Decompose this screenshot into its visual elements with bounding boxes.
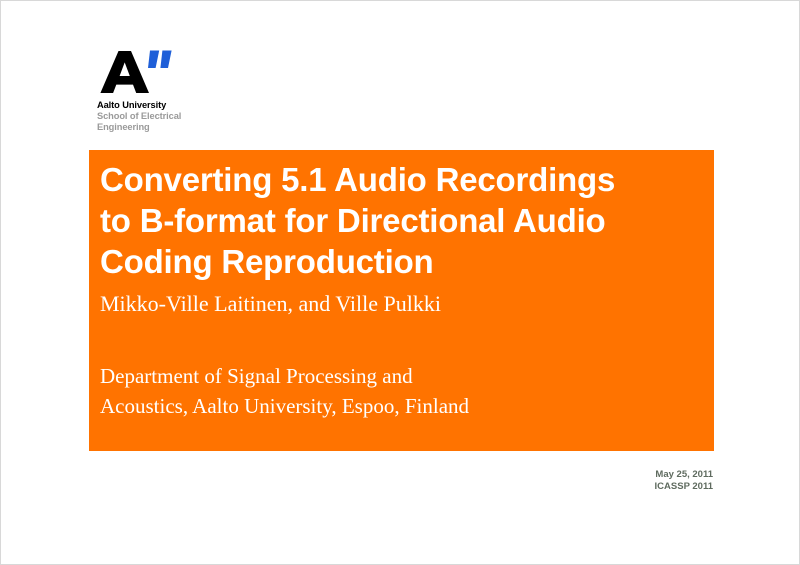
page-title: Converting 5.1 Audio Recordings to B-for…	[100, 159, 700, 282]
affiliation: Department of Signal Processing and Acou…	[100, 361, 469, 421]
logo-university-name: Aalto University	[97, 100, 277, 111]
logo-school-line-2: Engineering	[97, 122, 277, 133]
conference-name: ICASSP 2011	[655, 481, 713, 493]
title-line-1: Converting 5.1 Audio Recordings	[100, 159, 700, 200]
title-line-2: to B-format for Directional Audio	[100, 200, 700, 241]
logo-wordmark: Aalto University School of Electrical En…	[97, 100, 277, 133]
title-line-3: Coding Reproduction	[100, 241, 700, 282]
slide-footer: May 25, 2011 ICASSP 2011	[655, 469, 713, 493]
presentation-date: May 25, 2011	[655, 469, 713, 481]
author-list: Mikko-Ville Laitinen, and Ville Pulkki	[100, 291, 441, 317]
logo-school-line-1: School of Electrical	[97, 111, 277, 122]
aalto-a-quote-logo-icon	[97, 49, 175, 95]
affiliation-line-1: Department of Signal Processing and	[100, 361, 469, 391]
aalto-university-logo: Aalto University School of Electrical En…	[97, 49, 277, 135]
title-panel: Converting 5.1 Audio Recordings to B-for…	[89, 150, 714, 451]
presentation-title-slide: Aalto University School of Electrical En…	[0, 0, 800, 565]
affiliation-line-2: Acoustics, Aalto University, Espoo, Finl…	[100, 391, 469, 421]
